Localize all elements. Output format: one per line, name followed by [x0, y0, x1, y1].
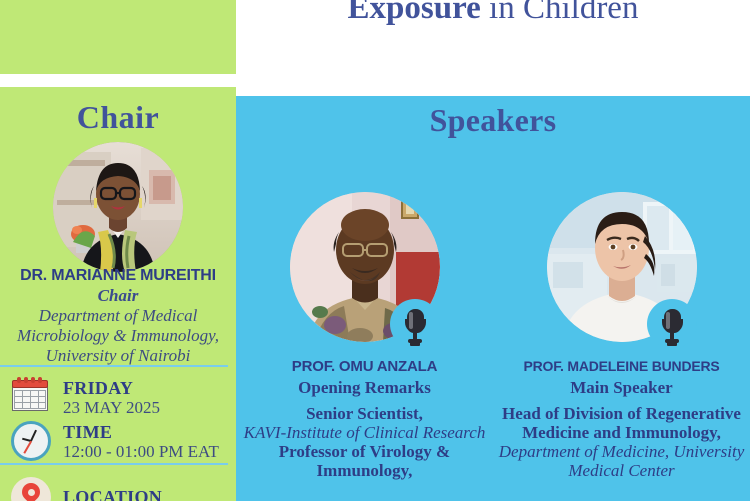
chair-affiliation: Department of Medical Microbiology & Imm…: [0, 306, 236, 366]
speaker-affiliation-1-line1: Senior Scientist,: [306, 404, 423, 423]
speaker-affiliation-1-line3: Professor of Virology & Immunology,: [279, 442, 450, 480]
speaker-affiliation-2-line1: Head of Division of Regenerative Medicin…: [502, 404, 741, 442]
event-time-row: TIME 12:00 - 01:00 PM EAT: [8, 419, 219, 463]
event-time-value: 12:00 - 01:00 PM EAT: [63, 442, 219, 461]
speaker-card-1: PROF. OMU ANZALA Opening Remarks Senior …: [236, 96, 493, 501]
speaker-role-2: Main Speaker: [493, 378, 750, 398]
speaker-name-1: PROF. OMU ANZALA: [236, 358, 493, 375]
divider-above-date: [0, 365, 228, 367]
green-accent-block-top: [0, 0, 236, 74]
speaker-name-2: PROF. MADELEINE BUNDERS: [493, 358, 750, 374]
event-date-row: FRIDAY 23 MAY 2025: [8, 375, 160, 419]
event-date-value: 23 MAY 2025: [63, 398, 160, 417]
location-pin-icon: [8, 475, 54, 501]
chair-avatar: [53, 142, 183, 272]
speaker-affiliation-2: Head of Division of Regenerative Medicin…: [493, 404, 750, 480]
event-location-label: LOCATION: [63, 487, 162, 501]
poster-title-area: Exposure in Children: [236, 0, 750, 96]
title-light-part: in Children: [481, 0, 639, 26]
clock-icon: [8, 419, 54, 463]
microphone-icon-2: [653, 305, 691, 347]
page-title: Exposure in Children: [348, 0, 639, 26]
event-time-label: TIME: [63, 422, 219, 442]
calendar-icon: [8, 375, 54, 419]
chair-portrait-image: [53, 142, 183, 272]
event-location-row: LOCATION: [8, 475, 162, 501]
chair-heading: Chair: [0, 99, 236, 136]
event-time-text: TIME 12:00 - 01:00 PM EAT: [63, 422, 219, 461]
speaker-card-2: PROF. MADELEINE BUNDERS Main Speaker Hea…: [493, 96, 750, 501]
microphone-icon-1: [396, 305, 434, 347]
chair-panel: Chair: [0, 87, 236, 501]
speaker-affiliation-2-line2: Department of Medicine, University Medic…: [499, 442, 745, 480]
chair-role: Chair: [0, 286, 236, 306]
event-date-label: FRIDAY: [63, 378, 160, 398]
event-location-text: LOCATION: [63, 487, 162, 501]
chair-name: DR. MARIANNE MUREITHI: [0, 267, 236, 285]
event-date-text: FRIDAY 23 MAY 2025: [63, 378, 160, 417]
speaker-role-1: Opening Remarks: [236, 378, 493, 398]
title-bold-part: Exposure: [348, 0, 481, 26]
speaker-affiliation-1: Senior Scientist, KAVI-Institute of Clin…: [236, 404, 493, 480]
speaker-affiliation-1-line2: KAVI-Institute of Clinical Research: [244, 423, 486, 442]
speakers-panel: Speakers: [236, 96, 750, 501]
event-poster: Exposure in Children Chair: [0, 0, 750, 501]
divider-above-location: [0, 463, 228, 465]
